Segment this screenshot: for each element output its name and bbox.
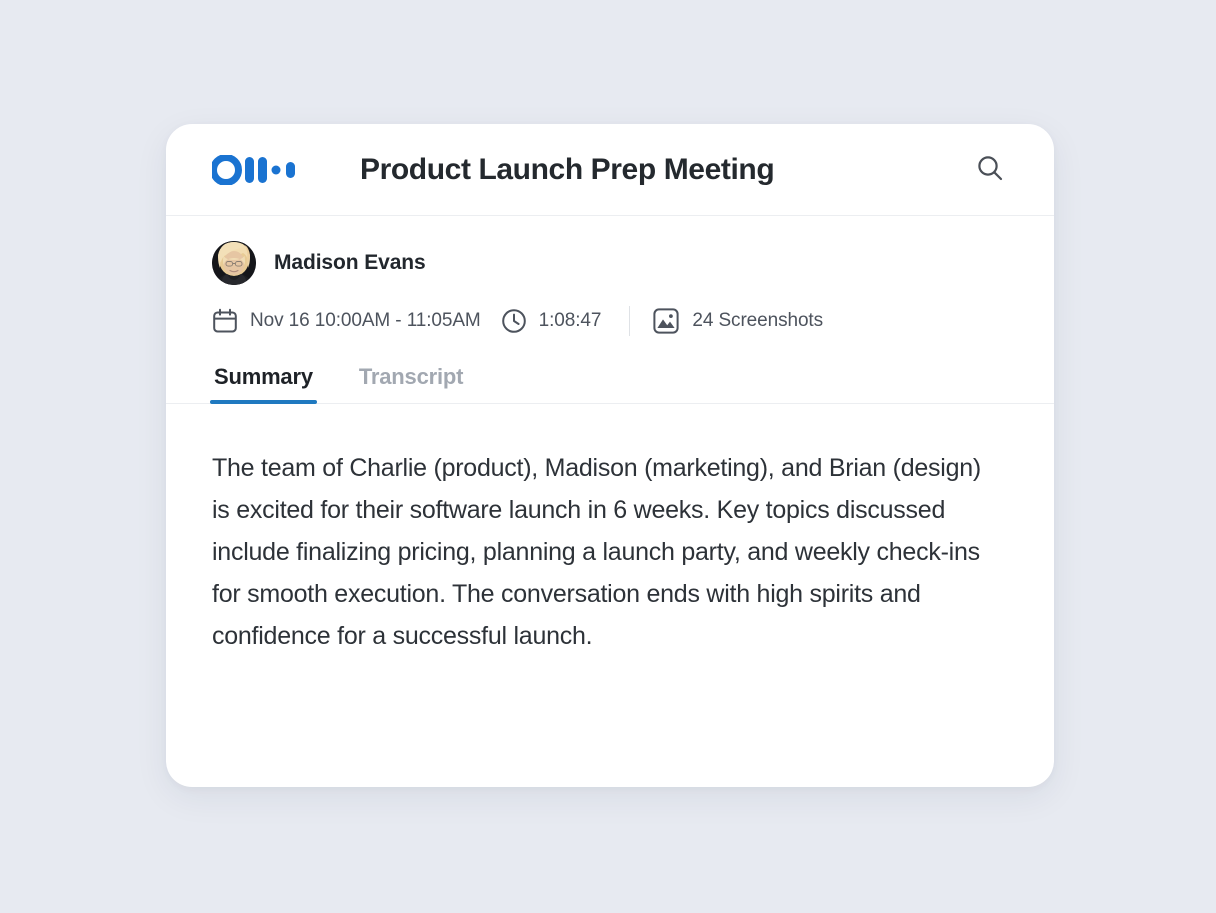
tab-summary[interactable]: Summary (212, 364, 315, 404)
meta-divider (629, 306, 630, 336)
clock-icon (501, 308, 527, 334)
search-icon (975, 153, 1005, 186)
card-header: Product Launch Prep Meeting (166, 124, 1054, 216)
page-title: Product Launch Prep Meeting (360, 153, 774, 187)
meta-screenshots[interactable]: 24 Screenshots (652, 307, 823, 335)
avatar[interactable] (212, 241, 256, 285)
tab-transcript-label: Transcript (359, 364, 463, 389)
card-body: Madison Evans Nov 16 10:00AM - 11:05AM (166, 216, 1054, 657)
meta-duration: 1:08:47 (501, 308, 602, 334)
meeting-date: Nov 16 10:00AM - 11:05AM (250, 310, 481, 332)
meeting-duration: 1:08:47 (539, 310, 602, 332)
speaker-row: Madison Evans (212, 216, 1008, 285)
meeting-card: Product Launch Prep Meeting (166, 124, 1054, 787)
meta-date: Nov 16 10:00AM - 11:05AM (212, 308, 481, 334)
image-icon (652, 307, 680, 335)
otter-logo[interactable] (212, 155, 298, 185)
meeting-meta: Nov 16 10:00AM - 11:05AM 1:08:47 (212, 306, 1008, 336)
tab-transcript[interactable]: Transcript (357, 364, 465, 404)
calendar-icon (212, 308, 238, 334)
speaker-name: Madison Evans (274, 251, 426, 275)
summary-text: The team of Charlie (product), Madison (… (212, 447, 1002, 657)
tab-bar: Summary Transcript (212, 364, 1008, 404)
page-background: Product Launch Prep Meeting (0, 0, 1216, 913)
tab-summary-label: Summary (214, 364, 313, 389)
screenshots-count: 24 Screenshots (692, 310, 823, 332)
search-button[interactable] (970, 150, 1010, 190)
